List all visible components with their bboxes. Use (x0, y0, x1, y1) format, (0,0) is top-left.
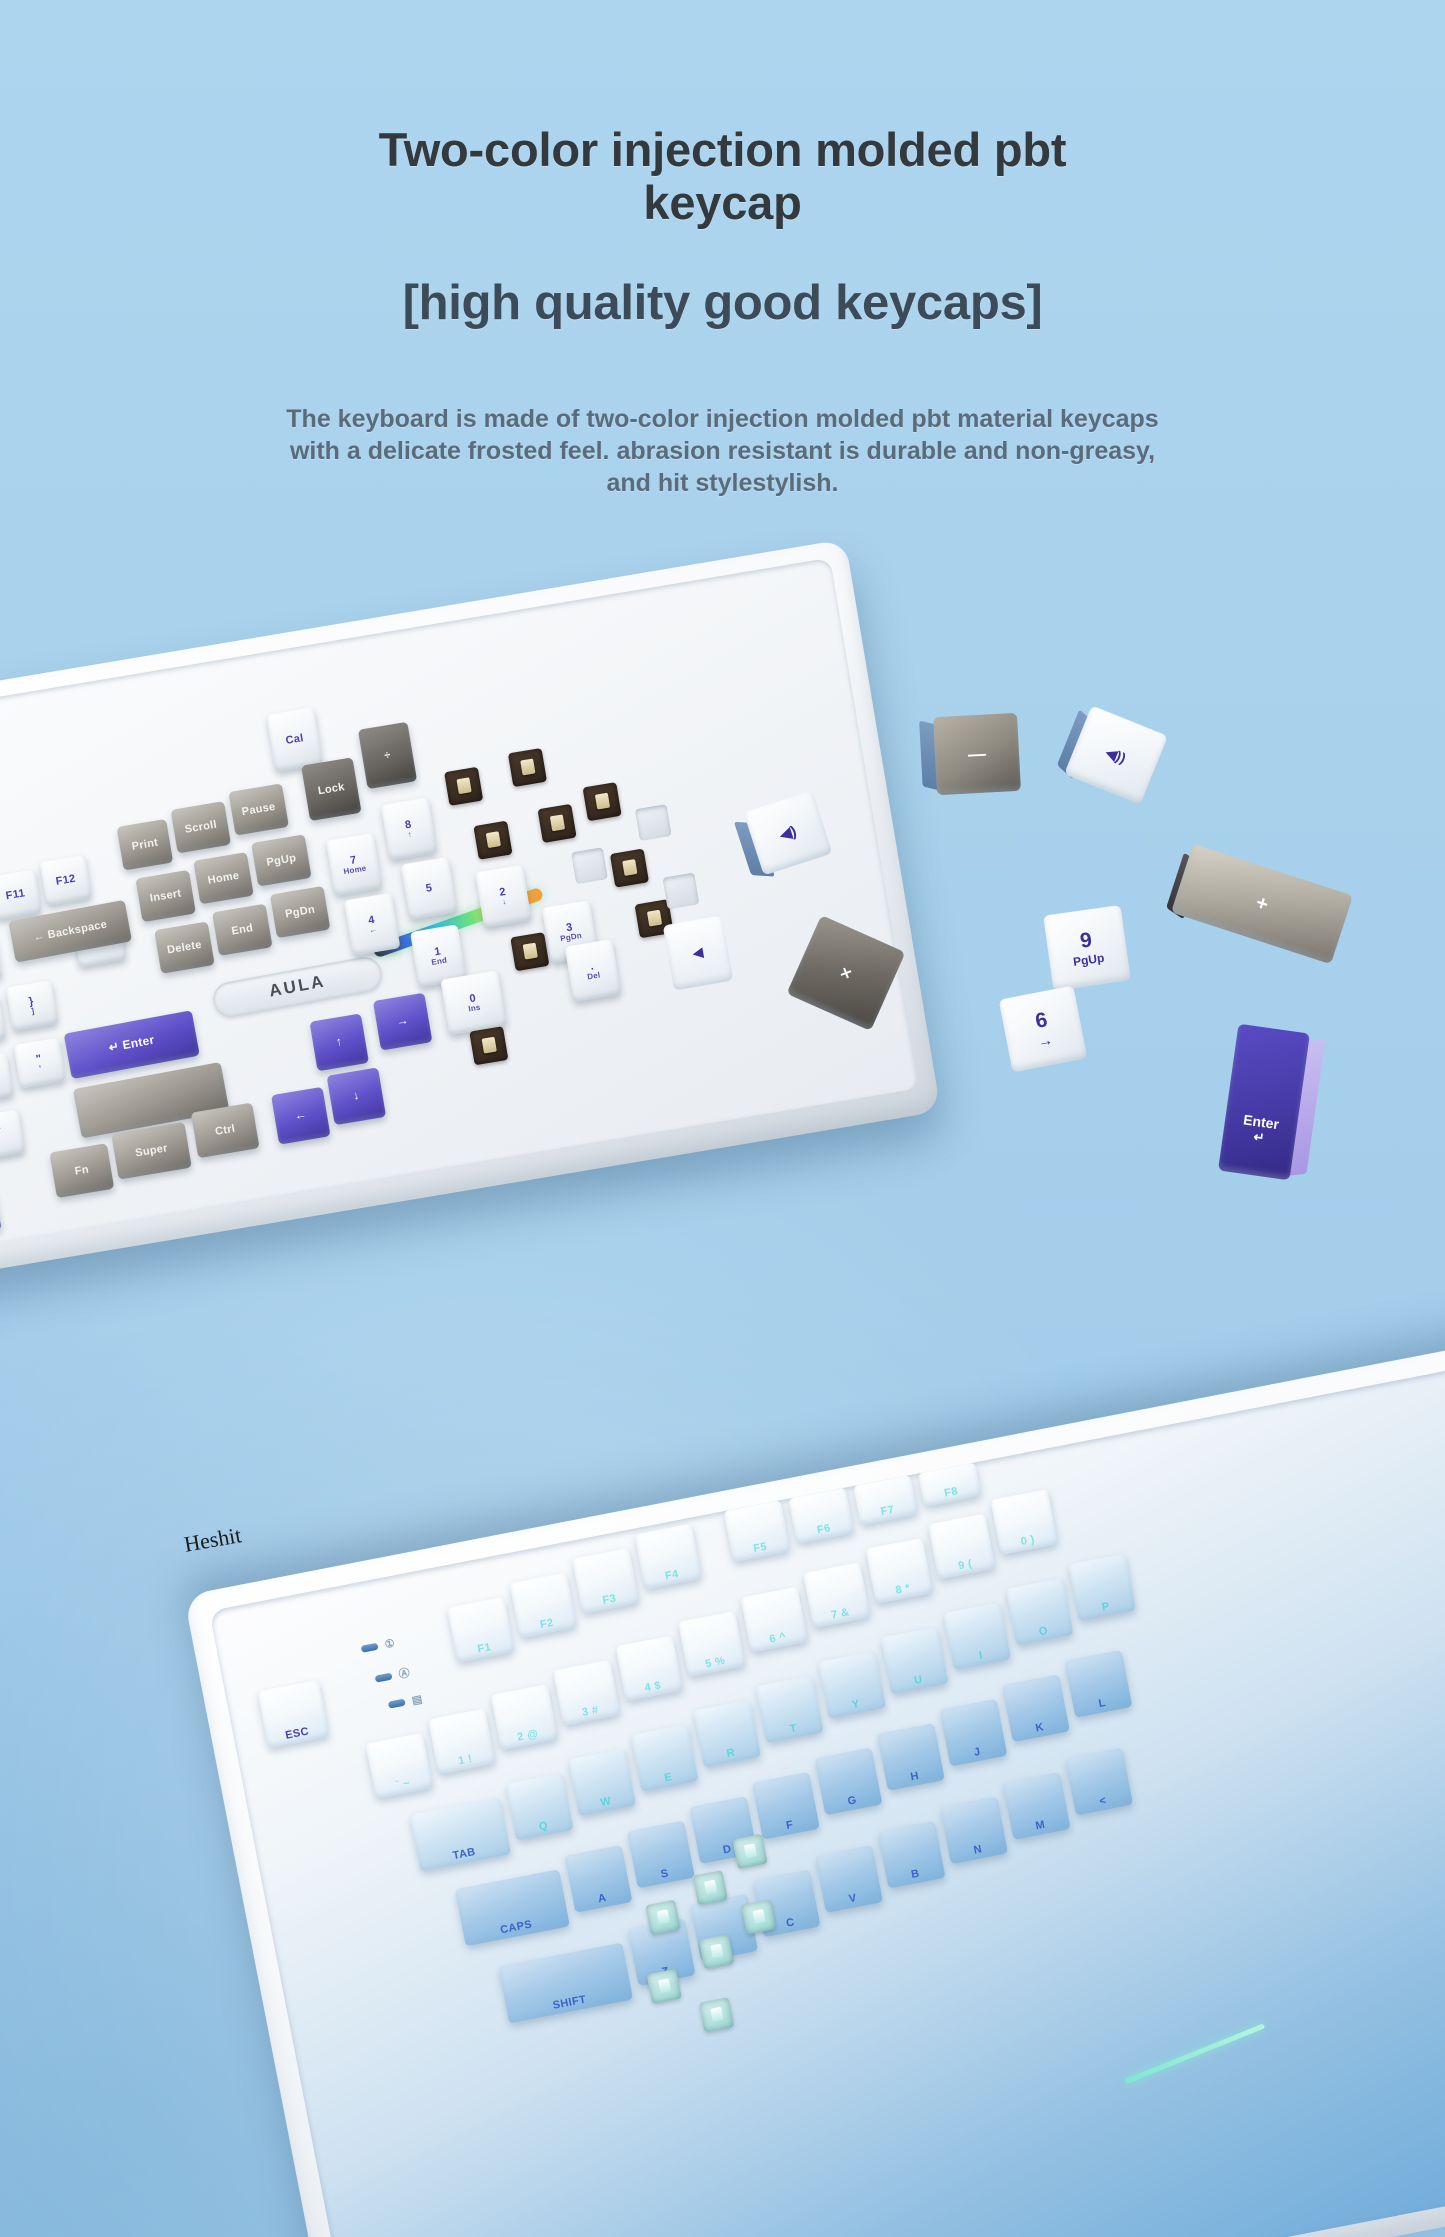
key-numpad-4[interactable]: 4 ← (344, 893, 401, 956)
exposed-switch (473, 821, 512, 860)
key-s[interactable]: S (627, 1820, 695, 1888)
key-grave[interactable]: ` ~ (365, 1733, 433, 1799)
key-l-lower[interactable]: L (1064, 1650, 1132, 1718)
key-equal[interactable]: = (0, 935, 2, 986)
caps-lock-indicator: Ⓐ (374, 1664, 411, 1686)
page-title-line-2: keycap (643, 176, 801, 229)
exposed-switch (699, 1997, 734, 2032)
key-0[interactable]: 0 ) (990, 1489, 1058, 1555)
keycap-face: 9 PgUp (1043, 905, 1131, 991)
key-comma[interactable]: < (1065, 1748, 1133, 1816)
floating-keycap-minus[interactable]: — (933, 713, 1021, 795)
key-k[interactable]: K (1002, 1674, 1070, 1742)
key-b[interactable]: B (878, 1821, 946, 1889)
key-print[interactable]: Print (117, 819, 174, 871)
key-p-lower[interactable]: P (1068, 1553, 1136, 1621)
aula-brand-badge: AULA (211, 954, 384, 1018)
key-v[interactable]: V (815, 1845, 883, 1913)
exposed-switch (583, 782, 622, 821)
key-semicolon[interactable]: : ; (0, 1052, 14, 1103)
key-alt[interactable]: Alt (0, 1182, 2, 1240)
brand-label: AULA (267, 971, 327, 1001)
key-f12[interactable]: F12 (39, 855, 92, 906)
key-numpad-decimal[interactable]: . Del (565, 939, 622, 1002)
key-7[interactable]: 7 & (803, 1562, 871, 1628)
keycap-face: — (933, 713, 1021, 795)
key-i[interactable]: I (943, 1602, 1011, 1670)
key-t[interactable]: T (756, 1675, 824, 1743)
floating-keycap-arrow[interactable]: ◀ (663, 915, 734, 990)
minus-icon: — (967, 743, 986, 765)
key-f3[interactable]: F3 (572, 1548, 640, 1614)
key-u[interactable]: U (881, 1627, 949, 1695)
page-title-line-1: Two-color injection molded pbt (379, 123, 1067, 176)
key-n[interactable]: N (940, 1796, 1008, 1864)
plus-icon: + (1253, 891, 1271, 916)
key-y[interactable]: Y (818, 1651, 886, 1719)
empty-switch-socket (635, 804, 672, 841)
key-q[interactable]: Q (506, 1773, 574, 1841)
key-j[interactable]: J (939, 1699, 1007, 1767)
key-f2[interactable]: F2 (509, 1572, 577, 1638)
exposed-switch (732, 1834, 767, 1869)
body-paragraph: The keyboard is made of two-color inject… (93, 331, 1353, 499)
key-f[interactable]: F (752, 1772, 820, 1840)
key-arrow-down[interactable]: ↓ (327, 1067, 387, 1125)
led-dot (374, 1672, 392, 1682)
key-bracket-left[interactable]: { [ (0, 995, 6, 1046)
key-bracket-right[interactable]: } ] (6, 980, 59, 1031)
speaker-high-icon: ◀)) (1104, 743, 1129, 766)
exposed-switch (508, 748, 547, 787)
key-f5[interactable]: F5 (724, 1500, 791, 1562)
key-quote[interactable]: " ' (13, 1038, 66, 1089)
key-slash[interactable]: ? / (0, 1109, 25, 1160)
key-tab[interactable]: TAB (410, 1797, 511, 1871)
caps-lock-icon: Ⓐ (397, 1664, 411, 1682)
key-numpad-5[interactable]: 5 (401, 857, 458, 920)
key-g[interactable]: G (814, 1747, 882, 1815)
exposed-switch (647, 1969, 682, 2004)
key-insert[interactable]: Insert (135, 870, 196, 922)
key-f11[interactable]: F11 (0, 869, 42, 920)
marketing-copy: Two-color injection molded pbt keycap [h… (0, 0, 1445, 499)
key-9[interactable]: 9 ( (928, 1513, 996, 1579)
key-divide[interactable]: ÷ (358, 722, 417, 789)
key-home[interactable]: Home (193, 852, 254, 904)
exposed-switch (741, 1899, 776, 1934)
key-scroll[interactable]: Scroll (171, 801, 232, 853)
exposed-switch (444, 767, 483, 806)
exposed-switch (469, 1026, 508, 1065)
scroll-lock-icon: ▤ (411, 1692, 424, 1707)
key-arrow-left[interactable]: ← (271, 1087, 331, 1145)
body-line-2: with a delicate frosted feel. abrasion r… (290, 437, 1155, 465)
key-ctrl[interactable]: Ctrl (191, 1103, 260, 1159)
key-6[interactable]: 6 ^ (740, 1587, 808, 1653)
exposed-switch (510, 932, 549, 971)
num-lock-indicator: ① (360, 1637, 396, 1656)
key-a[interactable]: A (564, 1845, 632, 1913)
key-5[interactable]: 5 % (678, 1611, 746, 1677)
key-shift[interactable]: SHIFT (498, 1943, 633, 2024)
num-lock-icon: ① (384, 1637, 396, 1652)
key-esc[interactable]: ESC (257, 1680, 329, 1749)
multiply-icon: × (837, 961, 855, 984)
key-end[interactable]: End (212, 904, 273, 956)
key-3[interactable]: 3 # (553, 1660, 621, 1726)
key-r[interactable]: R (693, 1700, 761, 1768)
led-dot (361, 1643, 379, 1653)
key-numpad-8[interactable]: 8 ↑ (381, 797, 438, 860)
key-numpad-2[interactable]: 2 ↓ (475, 865, 532, 928)
key-arrow-right[interactable]: → (373, 993, 433, 1051)
key-m[interactable]: M (1003, 1772, 1071, 1840)
led-dot (388, 1699, 406, 1709)
floating-keycap-pgup[interactable]: 9 PgUp (1043, 905, 1131, 991)
exposed-switch (610, 849, 649, 888)
key-1[interactable]: 1 ! (428, 1708, 496, 1774)
key-w[interactable]: W (568, 1748, 636, 1816)
key-pgup[interactable]: PgUp (251, 834, 312, 886)
key-numpad-7[interactable]: 7 Home (326, 833, 383, 896)
key-8[interactable]: 8 * (865, 1538, 933, 1604)
keycap-face: 6 → (999, 985, 1088, 1072)
keycap-face: ◀ (663, 915, 734, 990)
body-line-1: The keyboard is made of two-color inject… (286, 405, 1158, 433)
key-2[interactable]: 2 @ (490, 1684, 558, 1750)
key-numpad-0[interactable]: 0 Ins (440, 970, 506, 1035)
exposed-switch (693, 1870, 728, 1905)
exposed-switch (537, 804, 576, 843)
page-title: Two-color injection molded pbt keycap (223, 0, 1223, 229)
key-numlock[interactable]: Lock (301, 757, 362, 821)
key-f4[interactable]: F4 (634, 1524, 702, 1590)
key-cal[interactable]: Cal (266, 707, 323, 772)
key-o[interactable]: O (1006, 1578, 1074, 1646)
exposed-switch (699, 1934, 734, 1969)
key-pgdn[interactable]: PgDn (270, 886, 331, 938)
page-subtitle: [high quality good keycaps] (0, 277, 1445, 331)
empty-switch-socket (662, 872, 699, 909)
floating-keycap-six[interactable]: 6 → (999, 985, 1088, 1072)
key-caps[interactable]: CAPS (455, 1869, 570, 1946)
key-e[interactable]: E (631, 1724, 699, 1792)
key-fn[interactable]: Fn (49, 1143, 114, 1198)
key-4[interactable]: 4 $ (615, 1635, 683, 1701)
empty-switch-socket (571, 847, 608, 884)
exposed-switch (645, 1900, 680, 1935)
key-f6[interactable]: F6 (788, 1488, 854, 1544)
key-delete[interactable]: Delete (154, 921, 215, 973)
scroll-lock-indicator: ▤ (387, 1692, 423, 1711)
speaker-low-icon: ◀) (777, 822, 798, 844)
key-h[interactable]: H (877, 1723, 945, 1791)
key-f1[interactable]: F1 (447, 1597, 515, 1663)
key-arrow-up[interactable]: ↑ (309, 1013, 369, 1071)
body-line-3: and hit stylestylish. (606, 469, 838, 497)
key-pause[interactable]: Pause (228, 783, 289, 835)
